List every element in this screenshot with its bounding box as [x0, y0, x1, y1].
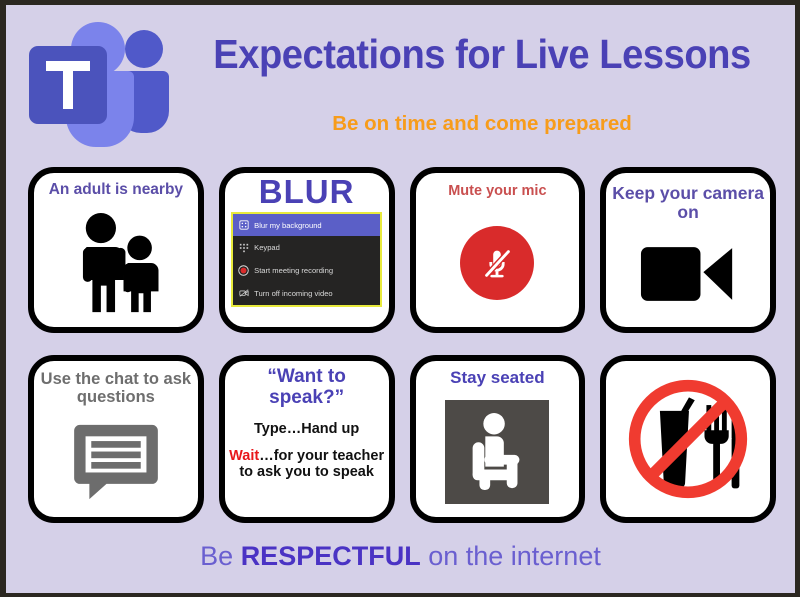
footer-trail: on the internet [421, 541, 601, 571]
chat-bubble-icon [34, 407, 198, 517]
card-adult-nearby: An adult is nearby [28, 167, 204, 333]
card-seated-title: Stay seated [416, 369, 580, 387]
footer-lead: Be [200, 541, 241, 571]
card-camera-title: Keep your camera on [606, 184, 770, 222]
menu-item-label: Turn off incoming video [254, 289, 333, 298]
blur-background-icon [238, 220, 249, 231]
mute-icon-wrap [416, 200, 580, 327]
card-use-the-chat: Use the chat to ask questions [28, 355, 204, 523]
menu-item-label: Start meeting recording [254, 266, 333, 275]
card-adult-title: An adult is nearby [34, 182, 198, 199]
footer-emphasis: RESPECTFUL [241, 541, 421, 571]
card-blur-background: BLUR Blur my background Keypad [219, 167, 395, 333]
record-icon [238, 265, 249, 276]
seated-icon-wrap [416, 387, 580, 517]
poster-canvas: Expectations for Live Lessons Be on time… [6, 5, 795, 593]
card-speak-line2: Wait…for your teacher to ask you to spea… [229, 448, 385, 480]
adult-and-child-icon [34, 199, 198, 327]
menu-item-blur-my-background[interactable]: Blur my background [233, 214, 380, 237]
video-off-icon [238, 288, 249, 299]
card-speak-line1: Type…Hand up [229, 421, 385, 437]
poster-footer: Be RESPECTFUL on the internet [6, 541, 795, 572]
no-food-or-drink-icon [606, 361, 770, 517]
card-speak-line2-rest: …for your teacher to ask you to speak [239, 448, 384, 480]
card-no-food-or-drink [600, 355, 776, 523]
card-want-to-speak: “Want to speak?” Type…Hand up Wait…for y… [219, 355, 395, 523]
menu-item-label: Blur my background [254, 221, 322, 230]
microsoft-teams-logo [20, 19, 180, 151]
page-title: Expectations for Live Lessons [203, 31, 761, 78]
card-mute-your-mic: Mute your mic [410, 167, 586, 333]
menu-item-label: Keypad [254, 243, 280, 252]
card-speak-wait-emphasis: Wait [229, 448, 259, 464]
card-stay-seated: Stay seated [410, 355, 586, 523]
page-subtitle: Be on time and come prepared [182, 112, 782, 136]
card-speak-question: “Want to speak?” [229, 367, 385, 408]
card-keep-camera-on: Keep your camera on [600, 167, 776, 333]
card-mute-title: Mute your mic [416, 184, 580, 200]
menu-item-start-meeting-recording[interactable]: Start meeting recording [233, 259, 380, 282]
video-camera-icon [606, 222, 770, 327]
keypad-icon [238, 242, 249, 253]
card-chat-title: Use the chat to ask questions [34, 371, 198, 407]
seated-person-icon [445, 400, 549, 504]
menu-item-keypad[interactable]: Keypad [233, 236, 380, 259]
teams-context-menu[interactable]: Blur my background Keypad Start meeting … [231, 212, 382, 307]
expectations-grid: An adult is nearby BLUR [28, 167, 776, 537]
menu-item-turn-off-incoming-video[interactable]: Turn off incoming video [233, 282, 380, 305]
poster-header: Expectations for Live Lessons Be on time… [6, 5, 795, 157]
card-blur-title: BLUR [225, 174, 389, 210]
mic-muted-icon [460, 226, 534, 300]
